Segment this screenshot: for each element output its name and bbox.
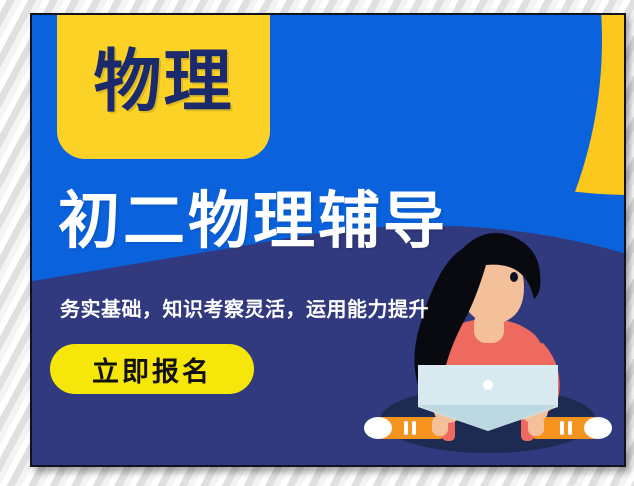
- subject-tag: 物理: [57, 13, 270, 159]
- register-now-button[interactable]: 立即报名: [50, 344, 254, 394]
- subject-tag-label: 物理: [93, 49, 233, 117]
- page-title: 初二物理辅导: [58, 190, 578, 252]
- register-now-label: 立即报名: [92, 350, 212, 389]
- poster-card: 物理 初二物理辅导 务实基础，知识考察灵活，运用能力提升 立即报名: [30, 13, 626, 467]
- subtitle-text: 务实基础，知识考察灵活，运用能力提升: [60, 299, 530, 319]
